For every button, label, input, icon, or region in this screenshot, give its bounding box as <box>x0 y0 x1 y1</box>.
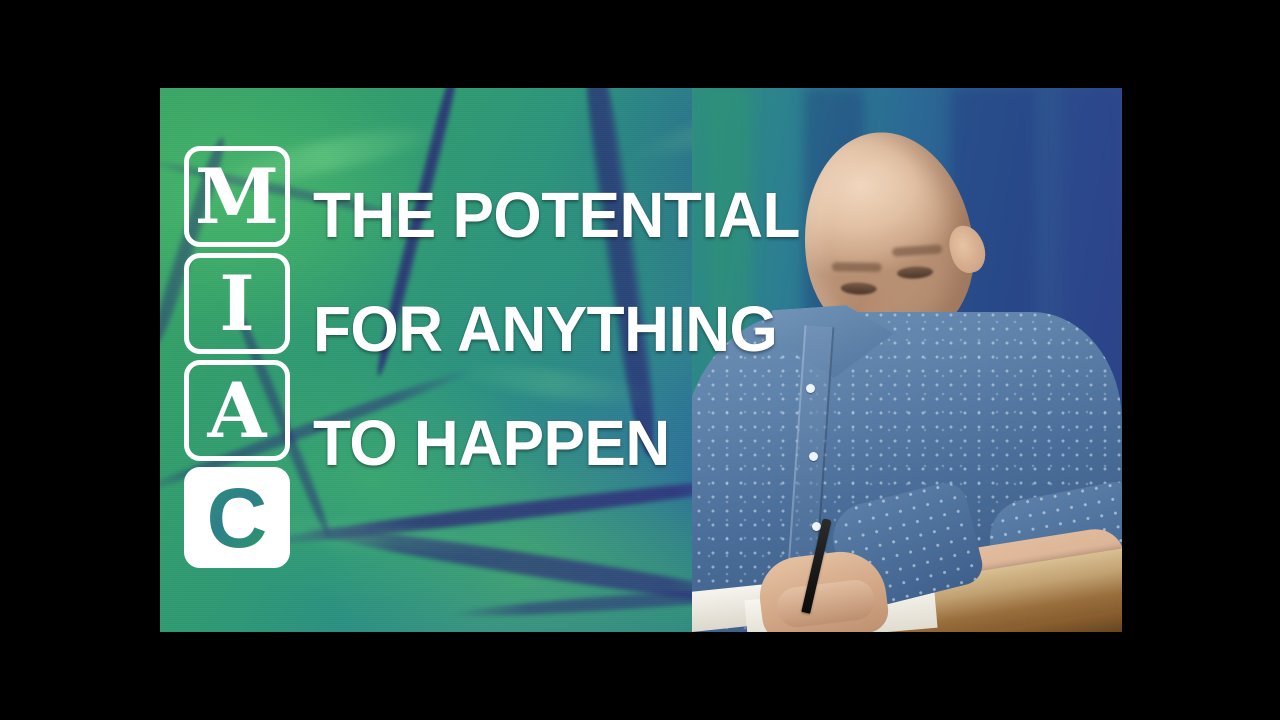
headline-line-2: FOR ANYTHING <box>313 297 895 361</box>
logo-letter: A <box>208 373 267 449</box>
headline-block: THE POTENTIAL FOR ANYTHING TO HAPPEN <box>313 183 913 475</box>
logo-letter: C <box>207 476 268 560</box>
logo-tile-a: A <box>178 354 296 467</box>
headline-line-3: TO HAPPEN <box>313 411 895 475</box>
logo-letter: M <box>195 159 279 235</box>
video-frame: M I A C THE POTENTIAL FOR ANYTHING TO HA… <box>160 88 1122 632</box>
screenshot-root: M I A C THE POTENTIAL FOR ANYTHING TO HA… <box>0 0 1280 720</box>
logo-tile-m: M <box>178 140 296 253</box>
miac-logo: M I A C <box>178 140 296 568</box>
logo-tile-c: C <box>178 461 296 574</box>
logo-letter: I <box>219 266 255 342</box>
headline-line-1: THE POTENTIAL <box>313 183 895 247</box>
logo-tile-i: I <box>178 247 296 360</box>
